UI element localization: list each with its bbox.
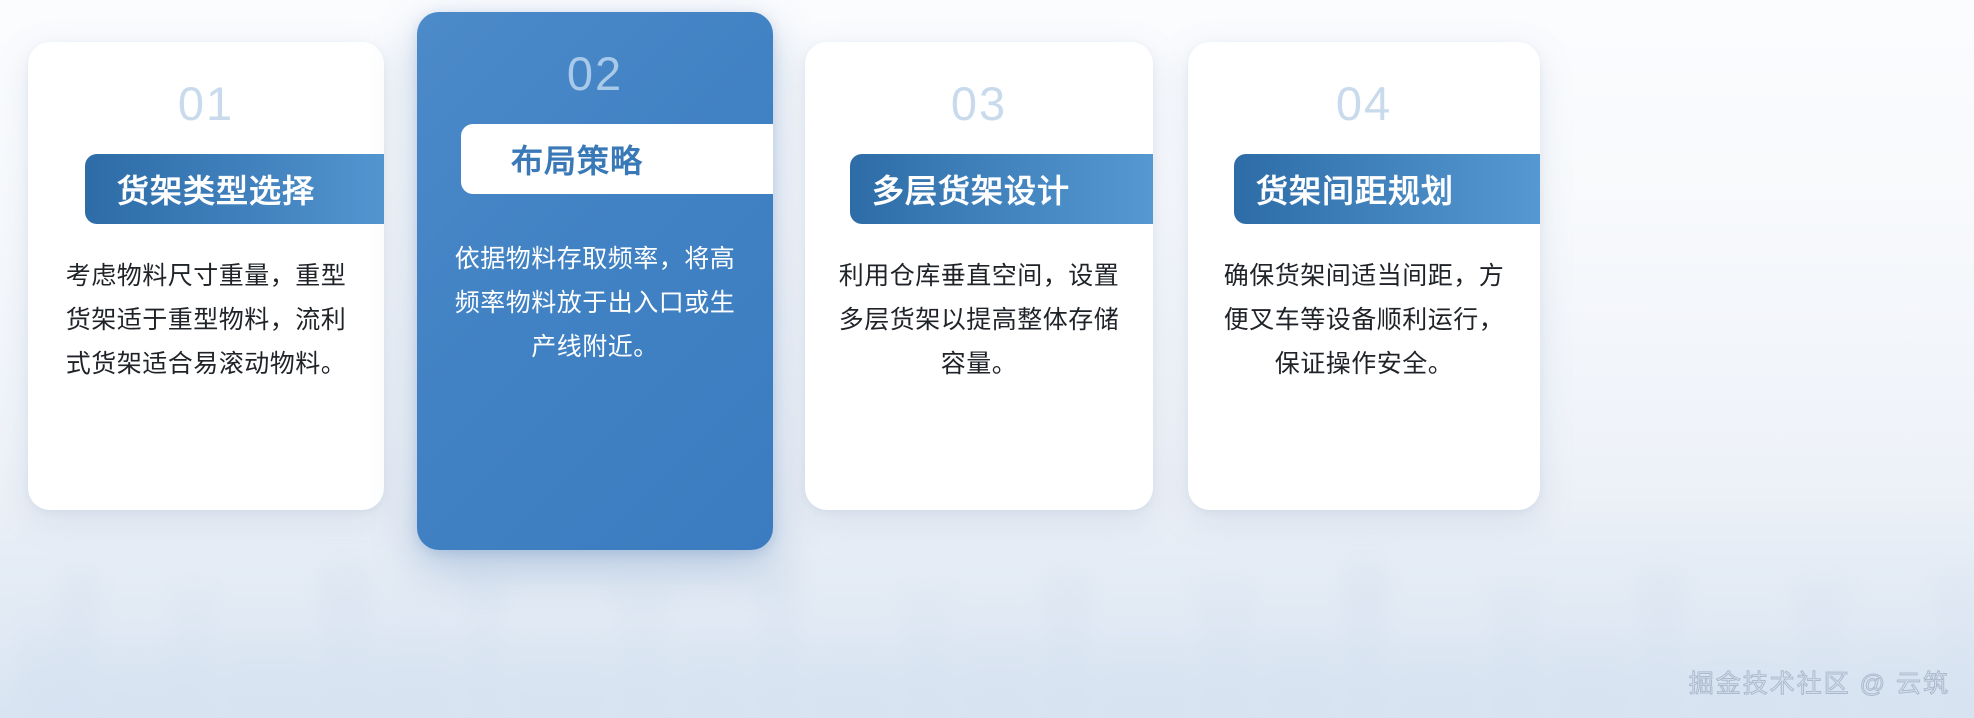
card-title-bar-04: 货架间距规划 <box>1188 154 1540 224</box>
card-title-bar-03: 多层货架设计 <box>805 154 1153 224</box>
card-number-01: 01 <box>28 80 384 127</box>
card-title-bar-02: 布局策略 <box>417 124 773 194</box>
card-body-03: 利用仓库垂直空间，设置多层货架以提高整体存储容量。 <box>835 254 1123 386</box>
card-01[interactable]: 01 货架类型选择 考虑物料尺寸重量，重型货架适于重型物料，流利式货架适合易滚动… <box>28 42 384 510</box>
card-title-01: 货架类型选择 <box>85 154 384 224</box>
card-body-01: 考虑物料尺寸重量，重型货架适于重型物料，流利式货架适合易滚动物料。 <box>58 254 354 386</box>
infographic-canvas: 01 货架类型选择 考虑物料尺寸重量，重型货架适于重型物料，流利式货架适合易滚动… <box>0 0 1974 718</box>
card-04[interactable]: 04 货架间距规划 确保货架间适当间距，方便叉车等设备顺利运行，保证操作安全。 <box>1188 42 1540 510</box>
watermark: 掘金技术社区 @ 云筑 <box>1689 664 1950 700</box>
card-02[interactable]: 02 布局策略 依据物料存取频率，将高频率物料放于出入口或生产线附近。 <box>417 12 773 550</box>
card-number-03: 03 <box>805 80 1153 127</box>
card-03[interactable]: 03 多层货架设计 利用仓库垂直空间，设置多层货架以提高整体存储容量。 <box>805 42 1153 510</box>
card-title-bar-01: 货架类型选择 <box>28 154 384 224</box>
card-number-02: 02 <box>417 50 773 97</box>
card-title-02: 布局策略 <box>461 124 773 194</box>
card-body-04: 确保货架间适当间距，方便叉车等设备顺利运行，保证操作安全。 <box>1218 254 1510 386</box>
card-title-03: 多层货架设计 <box>850 154 1153 224</box>
card-body-02: 依据物料存取频率，将高频率物料放于出入口或生产线附近。 <box>453 237 737 369</box>
card-number-04: 04 <box>1188 80 1540 127</box>
card-title-04: 货架间距规划 <box>1234 154 1540 224</box>
card-row: 01 货架类型选择 考虑物料尺寸重量，重型货架适于重型物料，流利式货架适合易滚动… <box>0 0 1974 718</box>
